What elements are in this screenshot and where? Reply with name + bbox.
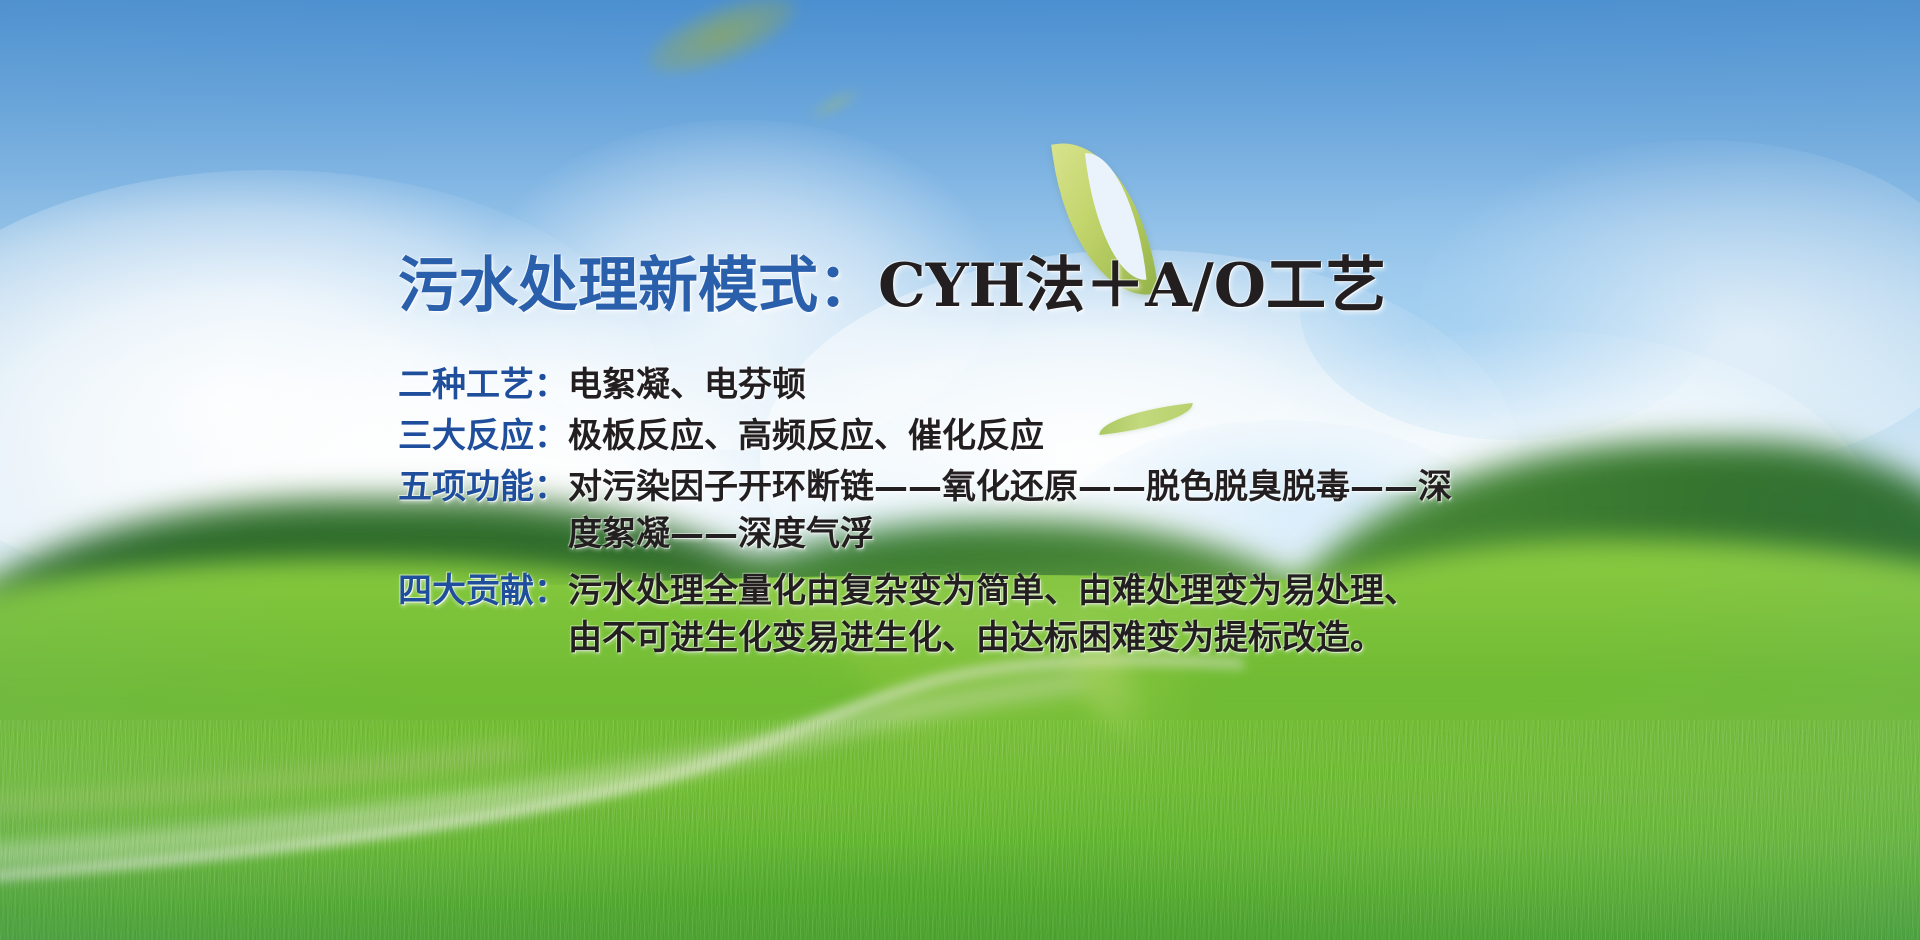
bullet-label: 四大贡献： <box>398 568 568 615</box>
bullet-line: 由不可进生化变易进生化、由达标困难变为提标改造。 <box>568 615 1418 662</box>
slide-title-blue: 污水处理新模式： <box>398 251 878 321</box>
bullet-line: 对污染因子开环断链——氧化还原——脱色脱臭脱毒——深 <box>568 467 1452 507</box>
bullet-row-2: 三大反应： 极板反应、高频反应、催化反应 <box>398 413 1578 460</box>
bullet-label: 二种工艺： <box>398 362 568 409</box>
bullet-row-1: 二种工艺： 电絮凝、电芬顿 <box>398 362 1578 409</box>
bullet-value: 电絮凝、电芬顿 <box>568 362 806 409</box>
slide-title-black: CYH法＋A/O工艺 <box>878 251 1386 321</box>
bullet-value: 对污染因子开环断链——氧化还原——脱色脱臭脱毒——深 度絮凝——深度气浮 <box>568 464 1452 558</box>
bullet-line: 电絮凝、电芬顿 <box>568 365 806 405</box>
row-spacer <box>398 558 1578 568</box>
bullet-label: 五项功能： <box>398 464 568 511</box>
bullet-row-3: 五项功能： 对污染因子开环断链——氧化还原——脱色脱臭脱毒——深 度絮凝——深度… <box>398 464 1578 558</box>
bullet-label: 三大反应： <box>398 413 568 460</box>
slide-content: 污水处理新模式：CYH法＋A/O工艺 二种工艺： 电絮凝、电芬顿 三大反应： 极… <box>0 0 1920 940</box>
bullet-value: 污水处理全量化由复杂变为简单、由难处理变为易处理、 由不可进生化变易进生化、由达… <box>568 568 1418 662</box>
bullet-line: 度絮凝——深度气浮 <box>568 511 1452 558</box>
bullet-row-4: 四大贡献： 污水处理全量化由复杂变为简单、由难处理变为易处理、 由不可进生化变易… <box>398 568 1578 662</box>
bullet-value: 极板反应、高频反应、催化反应 <box>568 413 1044 460</box>
bullet-line: 极板反应、高频反应、催化反应 <box>568 416 1044 456</box>
bullet-list: 二种工艺： 电絮凝、电芬顿 三大反应： 极板反应、高频反应、催化反应 五项功能：… <box>398 362 1578 662</box>
slide-title: 污水处理新模式：CYH法＋A/O工艺 <box>398 248 1386 324</box>
bullet-line: 污水处理全量化由复杂变为简单、由难处理变为易处理、 <box>568 571 1418 611</box>
